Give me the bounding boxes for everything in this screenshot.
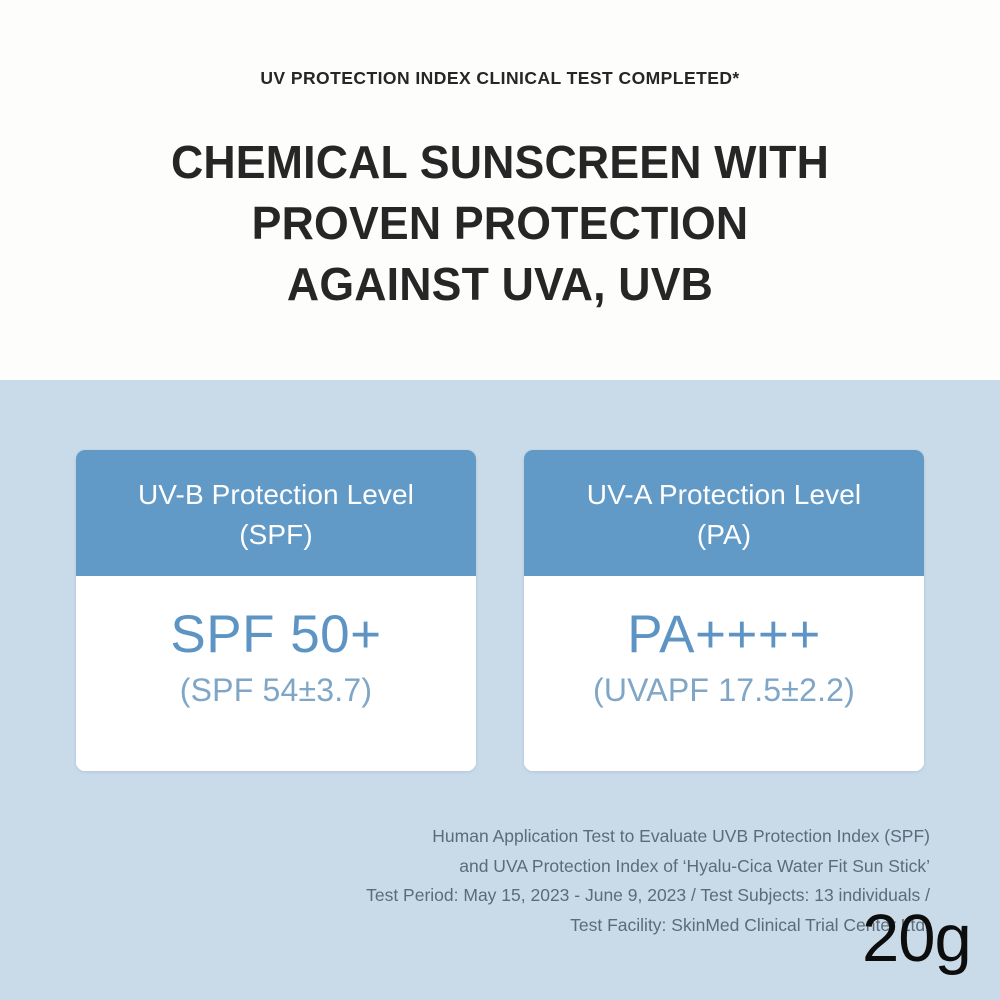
disclaimer-line-2: and UVA Protection Index of ‘Hyalu-Cica … [110,852,930,882]
card-uvb-spf-header: UV-B Protection Level (SPF) [76,450,476,576]
card-uvb-spf-header-line-1: UV-B Protection Level [138,475,414,515]
card-uvb-spf-value: SPF 50+ [170,604,381,666]
page-title: CHEMICAL SUNSCREEN WITH PROVEN PROTECTIO… [0,132,1000,315]
card-uvb-spf: UV-B Protection Level (SPF) SPF 50+ (SPF… [76,450,476,771]
product-detail-panel: UV PROTECTION INDEX CLINICAL TEST COMPLE… [0,0,1000,1000]
card-uva-pa-header-line-2: (PA) [697,515,751,555]
eyebrow-text: UV PROTECTION INDEX CLINICAL TEST COMPLE… [0,68,1000,89]
disclaimer-line-1: Human Application Test to Evaluate UVB P… [110,822,930,852]
card-uva-pa-header-line-1: UV-A Protection Level [587,475,861,515]
net-weight-label: 20g [862,903,971,975]
card-uvb-spf-body: SPF 50+ (SPF 54±3.7) [76,576,476,771]
card-uva-pa: UV-A Protection Level (PA) PA++++ (UVAPF… [524,450,924,771]
card-uva-pa-header: UV-A Protection Level (PA) [524,450,924,576]
card-uva-pa-value: PA++++ [627,604,821,666]
card-uva-pa-body: PA++++ (UVAPF 17.5±2.2) [524,576,924,771]
card-uva-pa-subvalue: (UVAPF 17.5±2.2) [593,670,855,710]
headline-line-1: CHEMICAL SUNSCREEN WITH [15,132,985,193]
clinical-test-disclaimer: Human Application Test to Evaluate UVB P… [110,822,930,940]
protection-cards-row: UV-B Protection Level (SPF) SPF 50+ (SPF… [76,450,924,771]
headline-section: UV PROTECTION INDEX CLINICAL TEST COMPLE… [0,0,1000,380]
headline-line-2: PROVEN PROTECTION [15,193,985,254]
results-section: UV-B Protection Level (SPF) SPF 50+ (SPF… [0,380,1000,1000]
card-uvb-spf-header-line-2: (SPF) [239,515,313,555]
headline-line-3: AGAINST UVA, UVB [15,254,985,315]
disclaimer-line-3: Test Period: May 15, 2023 - June 9, 2023… [110,881,930,911]
card-uvb-spf-subvalue: (SPF 54±3.7) [180,670,372,710]
disclaimer-line-4: Test Facility: SkinMed Clinical Trial Ce… [110,911,930,941]
